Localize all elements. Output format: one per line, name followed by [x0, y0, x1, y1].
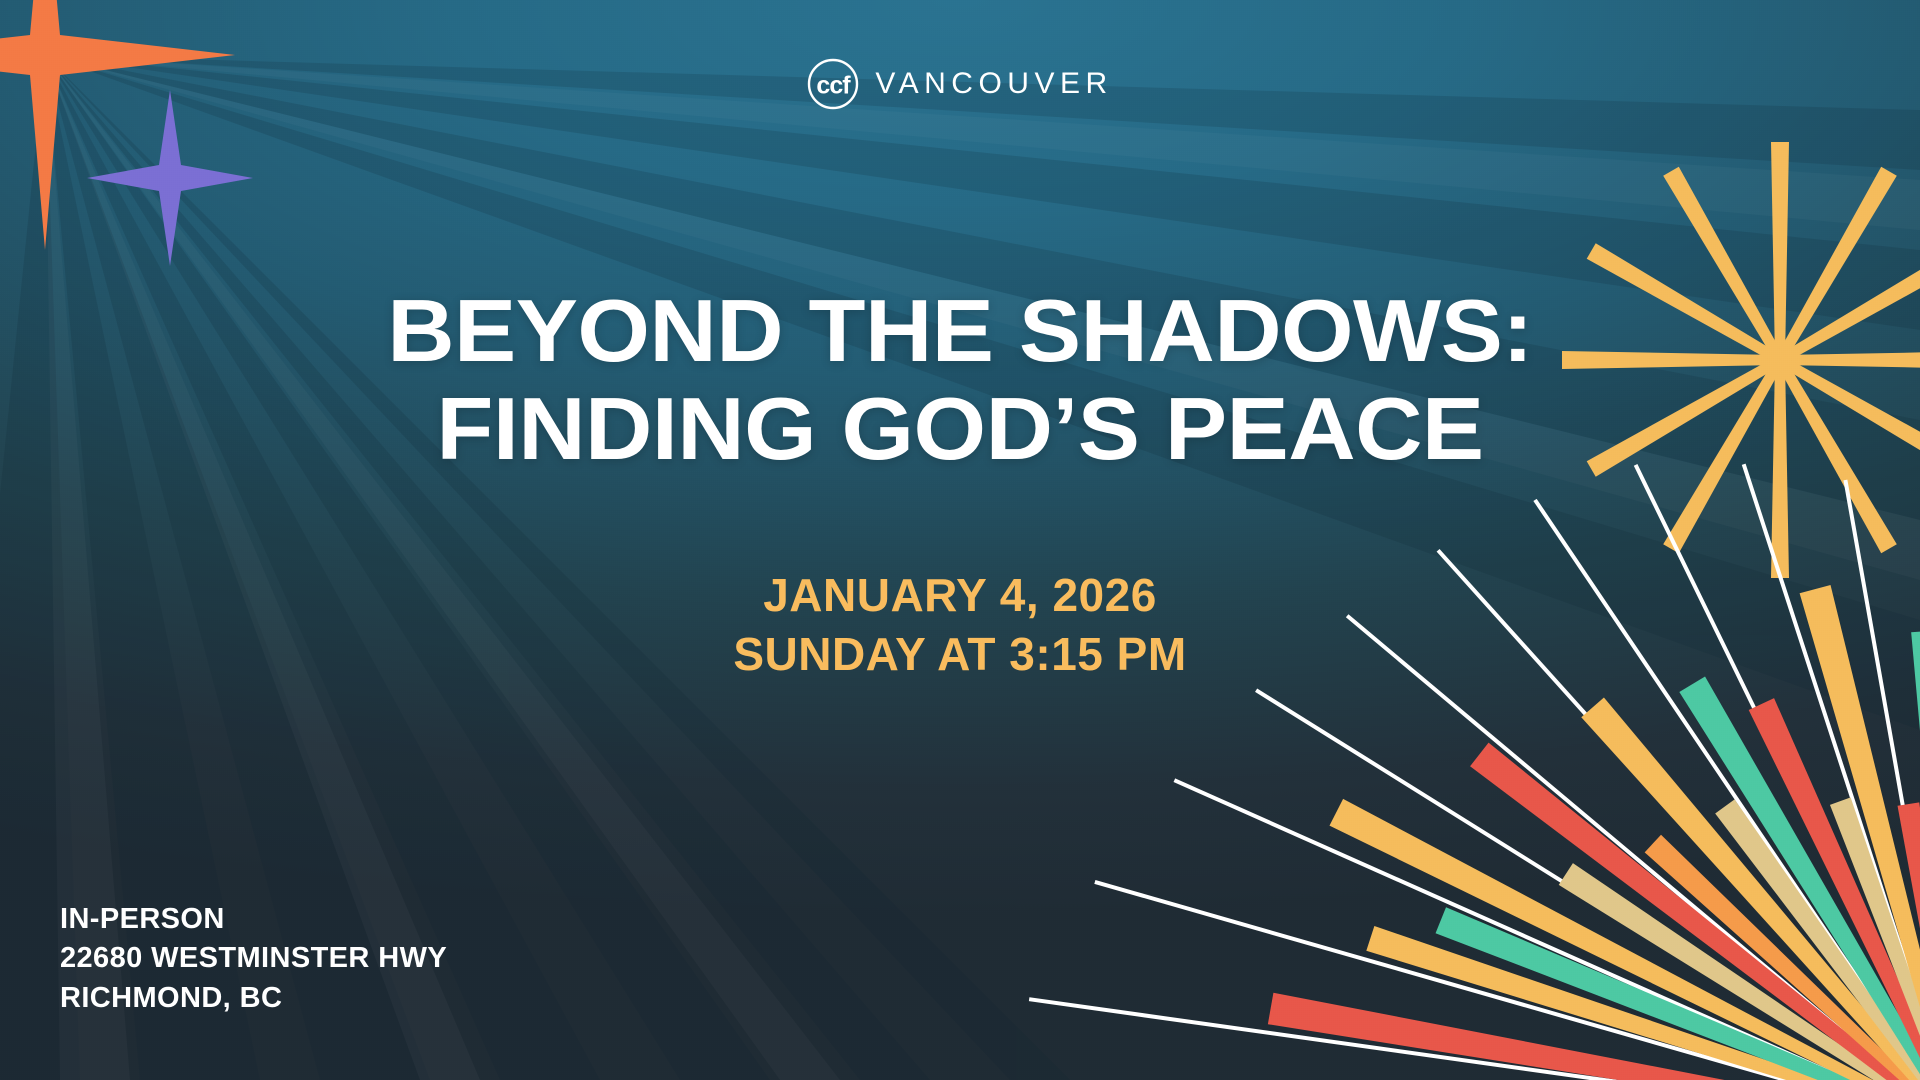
- brand-logo: ccf VANCOUVER: [0, 58, 1920, 110]
- street-address: 22680 WESTMINSTER HWY: [60, 939, 447, 978]
- event-poster: ccf VANCOUVER BEYOND THE SHADOWS: FINDIN…: [0, 0, 1920, 1080]
- attendance-mode: IN-PERSON: [60, 900, 447, 939]
- sparkle-orange-icon: [0, 0, 235, 250]
- event-date: JANUARY 4, 2026: [0, 566, 1920, 625]
- svg-text:ccf: ccf: [817, 72, 852, 100]
- event-datetime: JANUARY 4, 2026 SUNDAY AT 3:15 PM: [0, 566, 1920, 684]
- ccf-circle-logo-icon: ccf: [807, 58, 859, 110]
- sparkle-purple-icon: [87, 90, 253, 266]
- event-title-line-1: BEYOND THE SHADOWS:: [0, 282, 1920, 380]
- event-time: SUNDAY AT 3:15 PM: [0, 625, 1920, 684]
- brand-wordmark: VANCOUVER: [875, 69, 1112, 99]
- event-title-line-2: FINDING GOD’S PEACE: [0, 380, 1920, 478]
- event-location: IN-PERSON 22680 WESTMINSTER HWY RICHMOND…: [60, 900, 447, 1018]
- confetti-burst-icon: [1029, 464, 1920, 1080]
- event-title: BEYOND THE SHADOWS: FINDING GOD’S PEACE: [0, 282, 1920, 477]
- city-province: RICHMOND, BC: [60, 979, 447, 1018]
